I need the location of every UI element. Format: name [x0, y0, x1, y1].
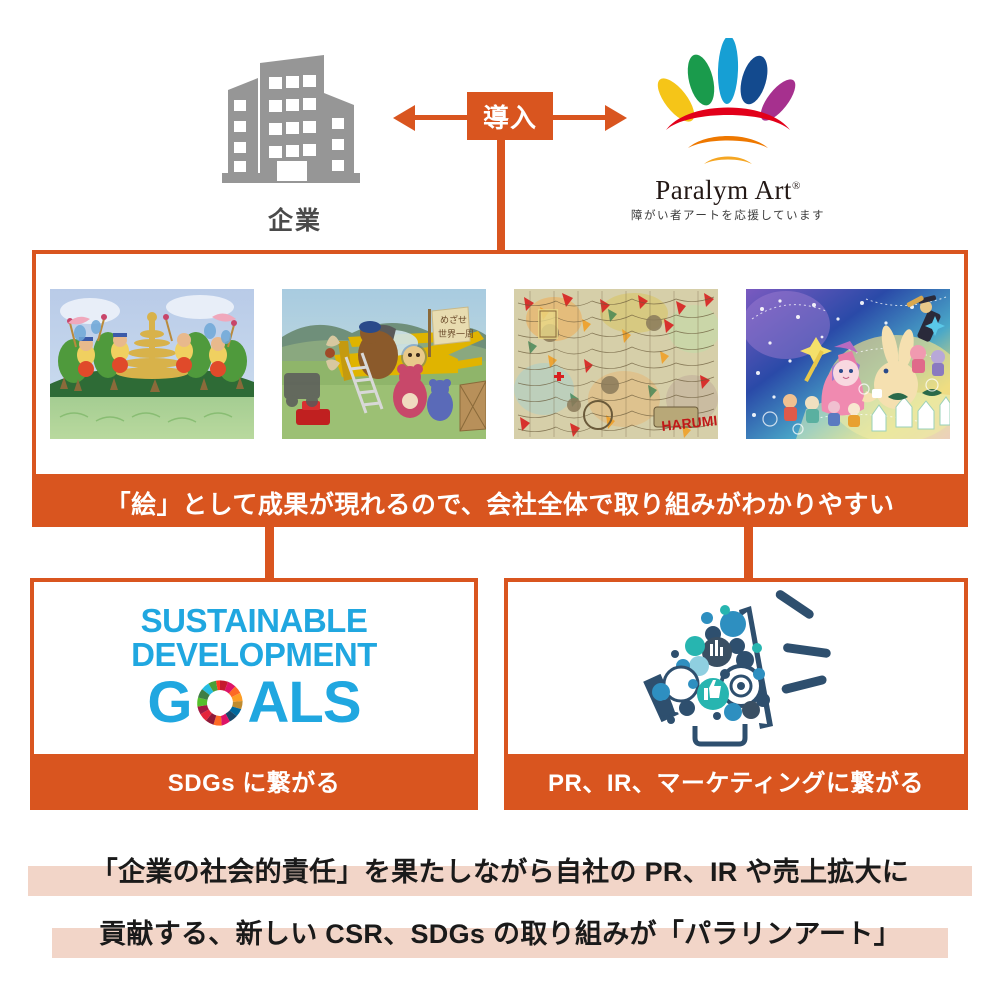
- artwork-gallery: めざせ世界一周: [32, 250, 968, 478]
- arrow-left-icon: [393, 105, 415, 131]
- arrow-right-shaft: [547, 115, 607, 120]
- paralym-art-logo-mark: [633, 38, 823, 173]
- paralym-art-wordmark: Paralym Art®: [655, 175, 801, 206]
- footer-line-1: 「企業の社会的責任」を果たしながら自社の PR、IR や売上拡大に: [91, 850, 909, 889]
- wordmark-text: Paralym Art: [655, 175, 792, 205]
- office-building-icon: [220, 45, 370, 195]
- connector-stem-top: [497, 140, 505, 252]
- infographic-canvas: 企業 導入 Paralym Art® 障がい者アートを応援しています: [0, 0, 1000, 1000]
- artwork-yellow-biplane: めざせ世界一周: [282, 289, 486, 439]
- introduction-label-box: 導入: [467, 92, 553, 140]
- artwork-magic-rabbit: [746, 289, 950, 439]
- sdgs-goals-als: ALS: [248, 674, 361, 732]
- footer-statement: 「企業の社会的責任」を果たしながら自社の PR、IR や売上拡大に 貢献する、新…: [0, 838, 1000, 962]
- footer-line-2: 貢献する、新しい CSR、SDGs の取り組みが「パラリンアート」: [99, 912, 901, 951]
- sdg-color-wheel-icon: [193, 676, 247, 730]
- connector-stem-left: [265, 527, 274, 579]
- sdgs-logo: SUSTAINABLE DEVELOPMENT G: [131, 604, 377, 733]
- sdgs-line-2: DEVELOPMENT: [131, 638, 377, 672]
- svg-text:めざせ: めざせ: [440, 314, 467, 325]
- sdgs-caption: SDGs に繋がる: [34, 754, 474, 806]
- paralym-art-logo-block: Paralym Art® 障がい者アートを応援しています: [608, 38, 848, 223]
- company-label: 企業: [200, 201, 390, 237]
- sdgs-goals-row: G: [131, 674, 377, 732]
- sdgs-line-1: SUSTAINABLE: [131, 604, 377, 638]
- svg-text:世界一周: 世界一周: [438, 328, 474, 339]
- pr-marketing-box-body: [508, 582, 964, 754]
- pr-marketing-caption: PR、IR、マーケティングに繋がる: [508, 754, 964, 806]
- sdgs-goals-g: G: [147, 674, 191, 732]
- paralym-art-tagline: 障がい者アートを応援しています: [608, 207, 848, 223]
- sdgs-box: SUSTAINABLE DEVELOPMENT G: [30, 578, 478, 810]
- footer-line-2-row: 貢献する、新しい CSR、SDGs の取り組みが「パラリンアート」: [0, 900, 1000, 962]
- pr-marketing-box: PR、IR、マーケティングに繋がる: [504, 578, 968, 810]
- introduction-arrow-row: 導入: [385, 92, 635, 142]
- artwork-dense-crowd: HARUMI: [514, 289, 718, 439]
- megaphone-marketing-icon: [621, 588, 851, 748]
- sdgs-box-body: SUSTAINABLE DEVELOPMENT G: [34, 582, 474, 754]
- registered-mark: ®: [792, 180, 801, 192]
- footer-line-1-row: 「企業の社会的責任」を果たしながら自社の PR、IR や売上拡大に: [0, 838, 1000, 900]
- gallery-banner-text: 「絵」として成果が現れるので、会社全体で取り組みがわかりやすい: [32, 478, 968, 527]
- arrow-left-shaft: [413, 115, 473, 120]
- connector-stem-right: [744, 527, 753, 579]
- company-block: 企業: [200, 45, 390, 237]
- artwork-forest-spirits: [50, 289, 254, 439]
